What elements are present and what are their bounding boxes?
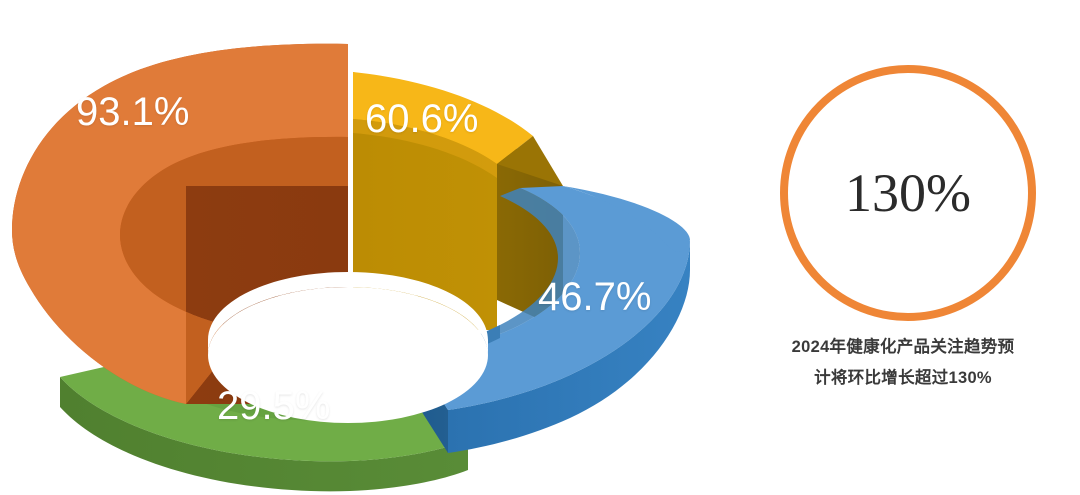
slice-label-blue: 46.7% [538, 277, 651, 317]
kpi-panel: 130% 2024年健康化产品关注趋势预 计将环比增长超过130% [720, 0, 1080, 495]
slice-label-gold: 60.6% [365, 99, 478, 139]
kpi-caption-line-2: 计将环比增长超过130% [738, 363, 1068, 394]
kpi-caption-line-1: 2024年健康化产品关注趋势预 [738, 332, 1068, 363]
kpi-value: 130% [780, 65, 1036, 321]
kpi-caption: 2024年健康化产品关注趋势预 计将环比增长超过130% [738, 332, 1068, 393]
slice-label-green: 29.5% [217, 386, 330, 426]
infographic-canvas: 93.1% 60.6% 46.7% 29.5% 130% 2024年健康化产品关… [0, 0, 1080, 495]
slice-label-orange: 93.1% [76, 92, 189, 132]
kpi-ring-wrap: 130% [780, 65, 1036, 321]
donut-chart: 93.1% 60.6% 46.7% 29.5% [0, 0, 720, 495]
donut-chart-svg [0, 0, 720, 495]
